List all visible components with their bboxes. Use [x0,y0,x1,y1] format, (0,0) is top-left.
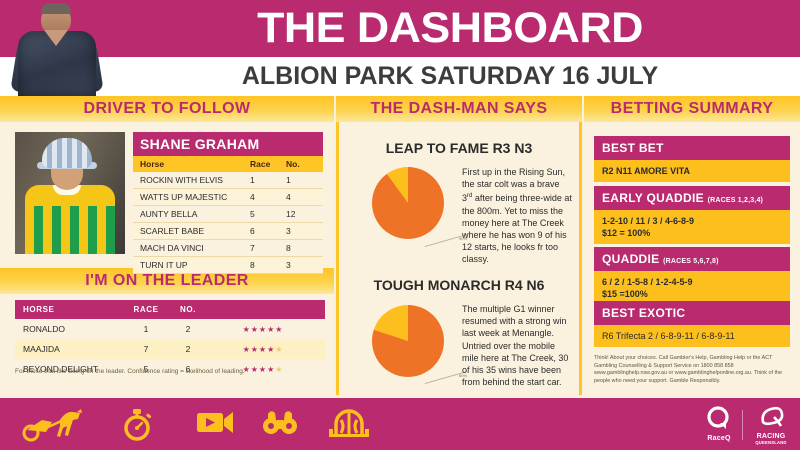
driver-silk-stripes [25,206,115,254]
quaddie-value: 6 / 2 / 1-5-8 / 1-2-4-5-9 $15 =100% [594,271,790,305]
responsible-gambling-fineprint: Think! About your choices. Call Gambler'… [594,355,794,385]
cell-race: 1 [125,324,167,334]
stars-filled: ★★★★ [243,345,276,354]
stopwatch-icon[interactable] [120,408,154,442]
binoculars-icon[interactable] [262,408,298,436]
early-quaddie-block: EARLY QUADDIE (RACES 1,2,3,4) 1-2-10 / 1… [594,186,790,244]
tip-text-2: The multiple G1 winner resumed with a st… [462,303,572,388]
driver-table: SHANE GRAHAM Horse Race No. ROCKIN WITH … [133,132,323,274]
cell-race: 8 [250,260,286,270]
host-hair [41,3,71,14]
cell-race: 6 [250,226,286,236]
band-betting-summary: BETTING SUMMARY [584,96,800,122]
pie-chart-2 [372,305,444,377]
cell-no: 2 [167,344,209,354]
leader-table-header: HORSE RACE NO. CONFIDENCE RATING [15,300,325,319]
tip-title-2: TOUGH MONARCH R4 N6 [336,277,582,293]
cell-horse: ROCKIN WITH ELVIS [140,175,250,185]
col-header-race: Race [250,159,286,169]
quaddie-block: QUADDIE (RACES 5,6,7,8) 6 / 2 / 1-5-8 / … [594,247,790,305]
logo-divider [742,410,743,440]
cell-horse: RONALDO [23,324,125,334]
table-row: ROCKIN WITH ELVIS 1 1 [133,172,323,189]
cell-horse: SCARLET BABE [140,226,250,236]
raceq-logo[interactable]: RaceQ [700,406,738,442]
cell-no: 2 [167,324,209,334]
harness-racing-icon[interactable] [22,408,84,442]
video-camera-icon[interactable] [196,408,234,436]
racing-queensland-mark-icon [758,406,784,428]
starting-gate-icon[interactable] [328,408,370,438]
cell-race: 1 [250,175,286,185]
leader-note: For those that like being on the leader.… [15,368,325,375]
best-exotic-value: R6 Trifecta 2 / 6-8-9-11 / 6-8-9-11 [594,325,790,347]
confidence-stars: ★★★★★ [209,325,317,334]
early-quaddie-heading: EARLY QUADDIE (RACES 1,2,3,4) [594,186,790,210]
meeting-subtitle: ALBION PARK SATURDAY 16 JULY [120,57,780,96]
best-bet-heading-text: BEST BET [602,141,664,155]
band-driver-to-follow: DRIVER TO FOLLOW [0,96,334,122]
stars-empty: ★ [275,345,283,354]
cell-horse: AUNTY BELLA [140,209,250,219]
early-quaddie-heading-text: EARLY QUADDIE [602,191,704,205]
cell-race: 4 [250,192,286,202]
quaddie-heading-text: QUADDIE [602,252,659,266]
page-title: THE DASHBOARD [107,2,793,55]
table-row: MAAJIDA 7 2 ★★★★★ [15,339,325,359]
cell-horse: MAAJIDA [23,344,125,354]
cell-no: 3 [286,226,316,236]
tip-text-1: First up in the Rising Sun, the star col… [462,166,572,266]
col-header-no: No. [286,159,316,169]
queensland-logo-text: QUEENSLAND [748,440,794,445]
cell-race: 5 [250,209,286,219]
best-bet-heading: BEST BET [594,136,790,160]
col-header-horse: Horse [140,159,250,169]
raceq-logo-text: RaceQ [700,435,738,442]
best-exotic-heading: BEST EXOTIC [594,301,790,325]
tip-text-1-suffix: after being three-wide at the 800m. Yet … [462,193,572,264]
cell-no: 12 [286,209,316,219]
table-row: SCARLET BABE 6 3 [133,223,323,240]
table-row: TURN IT UP 8 3 [133,257,323,274]
tip-title-1: LEAP TO FAME R3 N3 [336,140,582,156]
early-quaddie-value: 1-2-10 / 11 / 3 / 4-6-8-9 $12 = 100% [594,210,790,244]
cell-horse: MACH DA VINCI [140,243,250,253]
table-row: WATTS UP MAJESTIC 4 4 [133,189,323,206]
col-header-horse: HORSE [23,305,125,314]
quaddie-races: (RACES 5,6,7,8) [663,258,719,265]
pie-chart-1 [372,167,444,239]
early-quaddie-races: (RACES 1,2,3,4) [708,197,764,204]
cell-no: 4 [286,192,316,202]
driver-photo [15,132,125,254]
driver-table-header: Horse Race No. [133,156,323,172]
cell-horse: WATTS UP MAJESTIC [140,192,250,202]
host-photo [8,0,106,96]
racing-logo-text: RACING [748,433,794,440]
col-header-no: NO. [167,305,209,314]
best-exotic-block: BEST EXOTIC R6 Trifecta 2 / 6-8-9-11 / 6… [594,301,790,347]
best-exotic-heading-text: BEST EXOTIC [602,306,685,320]
band-dashman-says: THE DASH-MAN SAYS [336,96,582,122]
cell-no: 3 [286,260,316,270]
best-bet-value: R2 N11 AMORE VITA [594,160,790,182]
table-row: RONALDO 1 2 ★★★★★ [15,319,325,339]
cell-horse: TURN IT UP [140,260,250,270]
best-bet-block: BEST BET R2 N11 AMORE VITA [594,136,790,182]
cell-race: 7 [250,243,286,253]
confidence-stars: ★★★★★ [209,345,317,354]
quaddie-heading: QUADDIE (RACES 5,6,7,8) [594,247,790,271]
table-row: AUNTY BELLA 5 12 [133,206,323,223]
racing-queensland-logo[interactable]: RACING QUEENSLAND [748,406,794,445]
col-header-confidence: CONFIDENCE RATING [209,305,317,314]
col-header-race: RACE [125,305,167,314]
cell-no: 1 [286,175,316,185]
driver-name: SHANE GRAHAM [133,132,323,156]
table-row: MACH DA VINCI 7 8 [133,240,323,257]
raceq-mark-icon [706,406,732,430]
cell-no: 8 [286,243,316,253]
cell-race: 7 [125,344,167,354]
